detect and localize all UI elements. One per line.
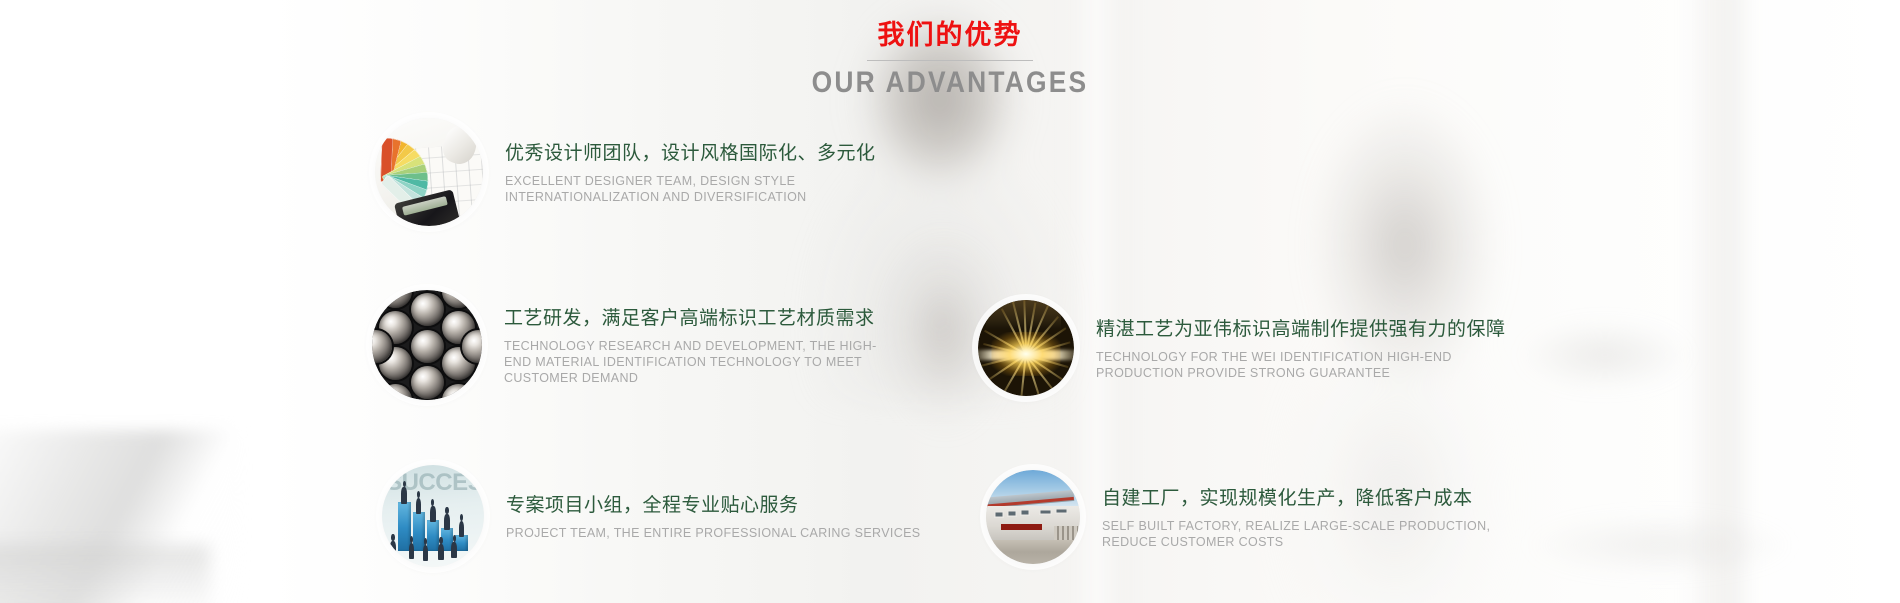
business-success-chart-icon: SUCCESS (382, 465, 484, 567)
section-heading: 我们的优势 OUR ADVANTAGES (0, 20, 1900, 101)
feature-title: 精湛工艺为亚伟标识高端制作提供强有力的保障 (1096, 316, 1526, 342)
feature-text-block: 自建工厂，实现规模化生产，降低客户成本 SELF BUILT FACTORY, … (1080, 485, 1502, 550)
feature-subtitle: PROJECT TEAM, THE ENTIRE PROFESSIONAL CA… (506, 525, 920, 541)
feature-title: 优秀设计师团队，设计风格国际化、多元化 (505, 140, 925, 166)
feature-item-own-factory[interactable]: 自建工厂，实现规模化生产，降低客户成本 SELF BUILT FACTORY, … (986, 470, 1502, 564)
metal-tubes-icon (372, 290, 482, 400)
feature-subtitle: TECHNOLOGY RESEARCH AND DEVELOPMENT, THE… (504, 338, 884, 386)
feature-item-exquisite-craft[interactable]: 精湛工艺为亚伟标识高端制作提供强有力的保障 TECHNOLOGY FOR THE… (978, 300, 1526, 396)
feature-text-block: 优秀设计师团队，设计风格国际化、多元化 EXCELLENT DESIGNER T… (483, 140, 925, 205)
feature-title: 专案项目小组，全程专业贴心服务 (506, 492, 920, 518)
feature-text-block: 工艺研发，满足客户高端标识工艺材质需求 TECHNOLOGY RESEARCH … (482, 305, 884, 386)
factory-building-icon (986, 470, 1080, 564)
background-laptop (0, 430, 240, 603)
laser-cutting-sparks-icon (978, 300, 1074, 396)
feature-subtitle: TECHNOLOGY FOR THE WEI IDENTIFICATION HI… (1096, 349, 1526, 381)
advantages-section: 我们的优势 OUR ADVANTAGES (0, 0, 1900, 603)
background-desk (0, 545, 210, 603)
background-blur-blob-upper (1520, 320, 1690, 390)
color-swatch-fan-icon (375, 118, 483, 226)
feature-title: 工艺研发，满足客户高端标识工艺材质需求 (504, 305, 884, 331)
feature-text-block: 精湛工艺为亚伟标识高端制作提供强有力的保障 TECHNOLOGY FOR THE… (1074, 316, 1526, 381)
heading-divider (867, 60, 1033, 61)
feature-item-designer-team[interactable]: 优秀设计师团队，设计风格国际化、多元化 EXCELLENT DESIGNER T… (375, 118, 925, 226)
page-title-cn: 我们的优势 (0, 20, 1900, 52)
background-blur-blob-lower (1530, 515, 1790, 575)
feature-item-project-team[interactable]: SUCCESS (382, 465, 920, 567)
feature-title: 自建工厂，实现规模化生产，降低客户成本 (1102, 485, 1502, 511)
page-title-en: OUR ADVANTAGES (114, 65, 1786, 101)
feature-text-block: 专案项目小组，全程专业贴心服务 PROJECT TEAM, THE ENTIRE… (484, 492, 920, 541)
feature-subtitle: EXCELLENT DESIGNER TEAM, DESIGN STYLE IN… (505, 173, 925, 205)
feature-subtitle: SELF BUILT FACTORY, REALIZE LARGE-SCALE … (1102, 518, 1502, 550)
feature-item-technology-rnd[interactable]: 工艺研发，满足客户高端标识工艺材质需求 TECHNOLOGY RESEARCH … (372, 290, 884, 400)
